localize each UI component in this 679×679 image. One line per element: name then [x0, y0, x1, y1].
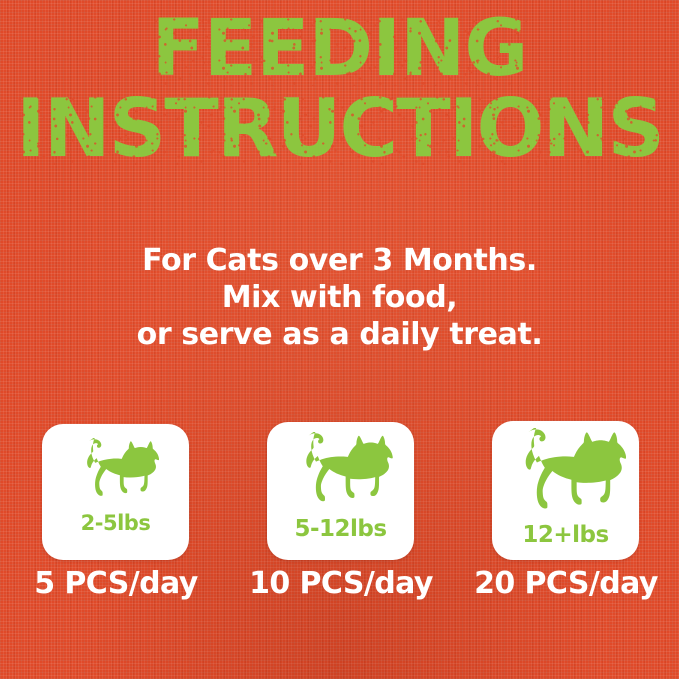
- weight-card-medium: 5-12lbs: [267, 422, 414, 560]
- feeding-instructions-poster: FEEDING INSTRUCTIONS For Cats over 3 Mon…: [0, 0, 679, 679]
- subtitle-line-2: Mix with food,: [0, 279, 679, 316]
- weight-label: 2-5lbs: [81, 511, 151, 535]
- headline-line-2-wrap: INSTRUCTIONS: [16, 92, 663, 166]
- subtitle-line-1: For Cats over 3 Months.: [0, 243, 679, 279]
- weight-label: 12+lbs: [522, 522, 608, 548]
- dosage-label-small: 5 PCS/day: [20, 563, 212, 605]
- weight-card-small: 2-5lbs: [42, 424, 189, 560]
- dosage-row: 5 PCS/day 10 PCS/day 20 PCS/day: [0, 563, 679, 607]
- dosage-label-large: 20 PCS/day: [468, 563, 664, 605]
- weight-label: 5-12lbs: [294, 516, 386, 542]
- headline-line-1-wrap: FEEDING: [152, 14, 528, 86]
- dosage-label-medium: 10 PCS/day: [243, 563, 439, 605]
- cat-icon: [506, 428, 626, 514]
- cat-icon: [73, 438, 159, 500]
- subtitle-block: For Cats over 3 Months. Mix with food, o…: [0, 243, 679, 353]
- subtitle-line-3: or serve as a daily treat.: [0, 316, 679, 353]
- headline-feeding: FEEDING: [152, 14, 528, 86]
- cat-icon: [289, 432, 393, 506]
- headline-instructions: INSTRUCTIONS: [16, 92, 663, 166]
- weight-cards-row: 2-5lbs 5-12lbs 12+lbs: [0, 418, 679, 563]
- weight-card-large: 12+lbs: [492, 421, 639, 560]
- headline-block: FEEDING INSTRUCTIONS: [0, 14, 679, 165]
